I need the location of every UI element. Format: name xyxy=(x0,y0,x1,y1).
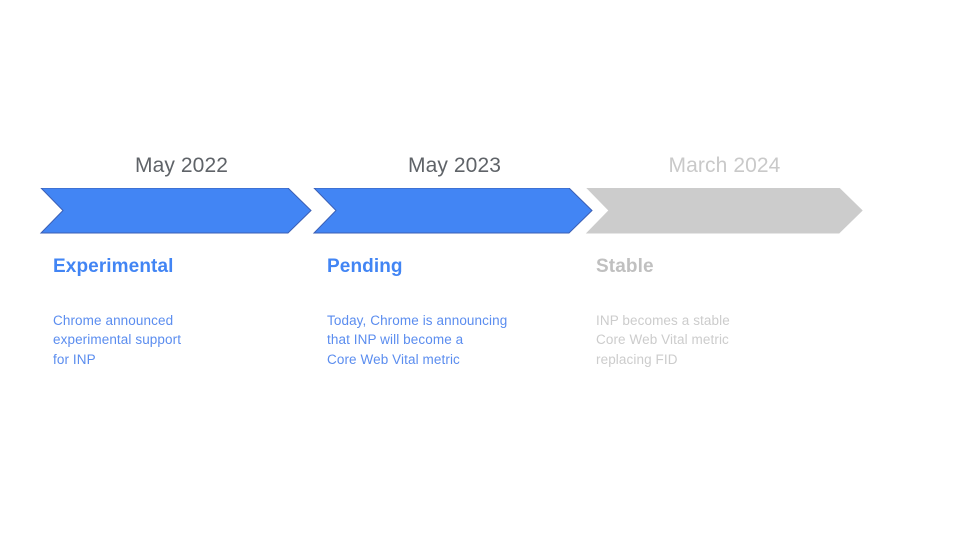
stage-description-2: Today, Chrome is announcing that INP wil… xyxy=(327,311,582,369)
stage-date-3: March 2024 xyxy=(586,152,863,180)
stage-date-1: May 2022 xyxy=(40,152,323,180)
chevron-arrow-3 xyxy=(587,188,862,233)
timeline-diagram: May 2022 May 2023 March 2024 Experimenta… xyxy=(0,0,960,540)
stage-heading-stable: Stable xyxy=(596,254,654,280)
chevron-arrow-2 xyxy=(314,188,592,233)
chevron-arrow-band xyxy=(0,188,960,234)
stage-date-2: May 2023 xyxy=(313,152,596,180)
stage-description-1: Chrome announced experimental support fo… xyxy=(53,311,303,369)
stage-heading-pending: Pending xyxy=(327,254,403,280)
stage-heading-experimental: Experimental xyxy=(53,254,174,280)
chevron-arrow-1 xyxy=(41,188,311,233)
stage-description-3: INP becomes a stable Core Web Vital metr… xyxy=(596,311,846,369)
